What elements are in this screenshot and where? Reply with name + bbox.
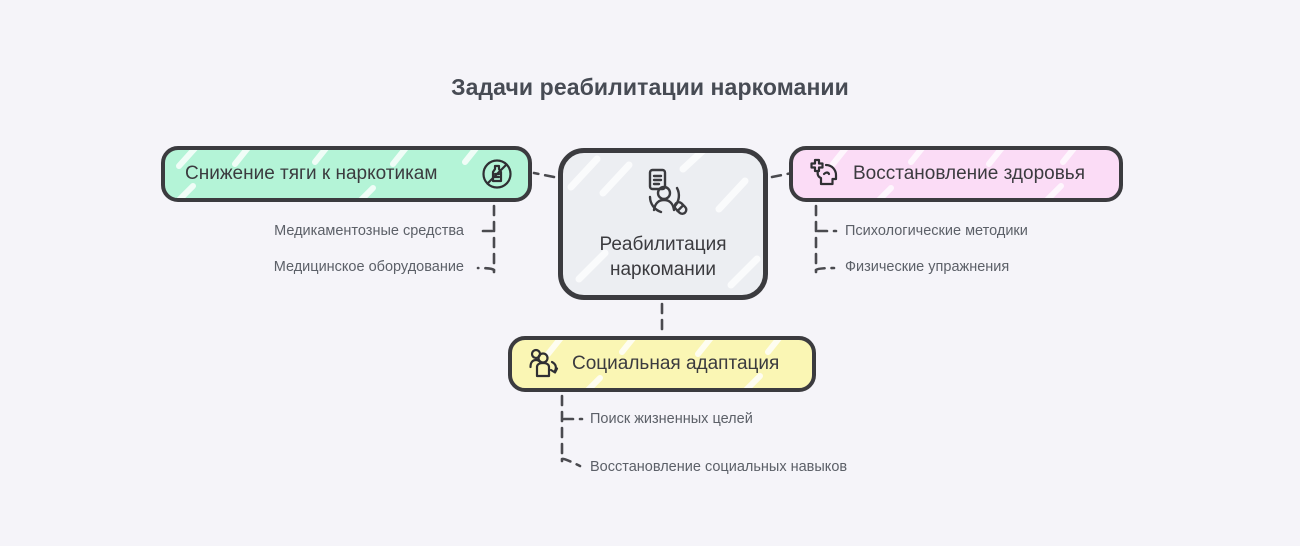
link-pink-leaf-1 <box>816 268 834 270</box>
no-drugs-icon <box>480 157 514 191</box>
person-document-pill-icon <box>634 166 692 222</box>
node-branch-yellow[interactable]: Социальная адаптация <box>508 336 816 392</box>
node-branch-pink-label: Восстановление здоровья <box>853 163 1085 185</box>
link-green-leaf-1 <box>478 268 494 270</box>
leaf-label: Медикаментозные средства <box>120 223 464 239</box>
link-yellow-leaf-1 <box>562 459 580 466</box>
node-branch-yellow-label: Социальная адаптация <box>572 353 779 375</box>
node-branch-pink[interactable]: Восстановление здоровья <box>789 146 1123 202</box>
leaf-label: Психологические методики <box>845 223 1028 239</box>
diagram-canvas: Задачи реабилитации наркомании <box>0 0 1300 546</box>
leaf-label: Поиск жизненных целей <box>590 411 753 427</box>
node-center[interactable]: Реабилитация наркомании <box>558 148 768 300</box>
node-center-label: Реабилитация наркомании <box>599 232 726 282</box>
head-health-cross-icon <box>807 157 841 191</box>
node-center-label-line2: наркомании <box>599 257 726 282</box>
node-branch-green-label: Снижение тяги к наркотикам <box>185 163 437 185</box>
leaf-label: Физические упражнения <box>845 259 1009 275</box>
leaf-label: Восстановление социальных навыков <box>590 459 847 475</box>
link-center-green <box>534 173 554 177</box>
page-title: Задачи реабилитации наркомании <box>0 74 1300 101</box>
people-group-arrow-icon <box>526 347 562 381</box>
node-branch-green[interactable]: Снижение тяги к наркотикам <box>161 146 532 202</box>
node-center-label-line1: Реабилитация <box>599 232 726 257</box>
leaf-label: Медицинское оборудование <box>120 259 464 275</box>
